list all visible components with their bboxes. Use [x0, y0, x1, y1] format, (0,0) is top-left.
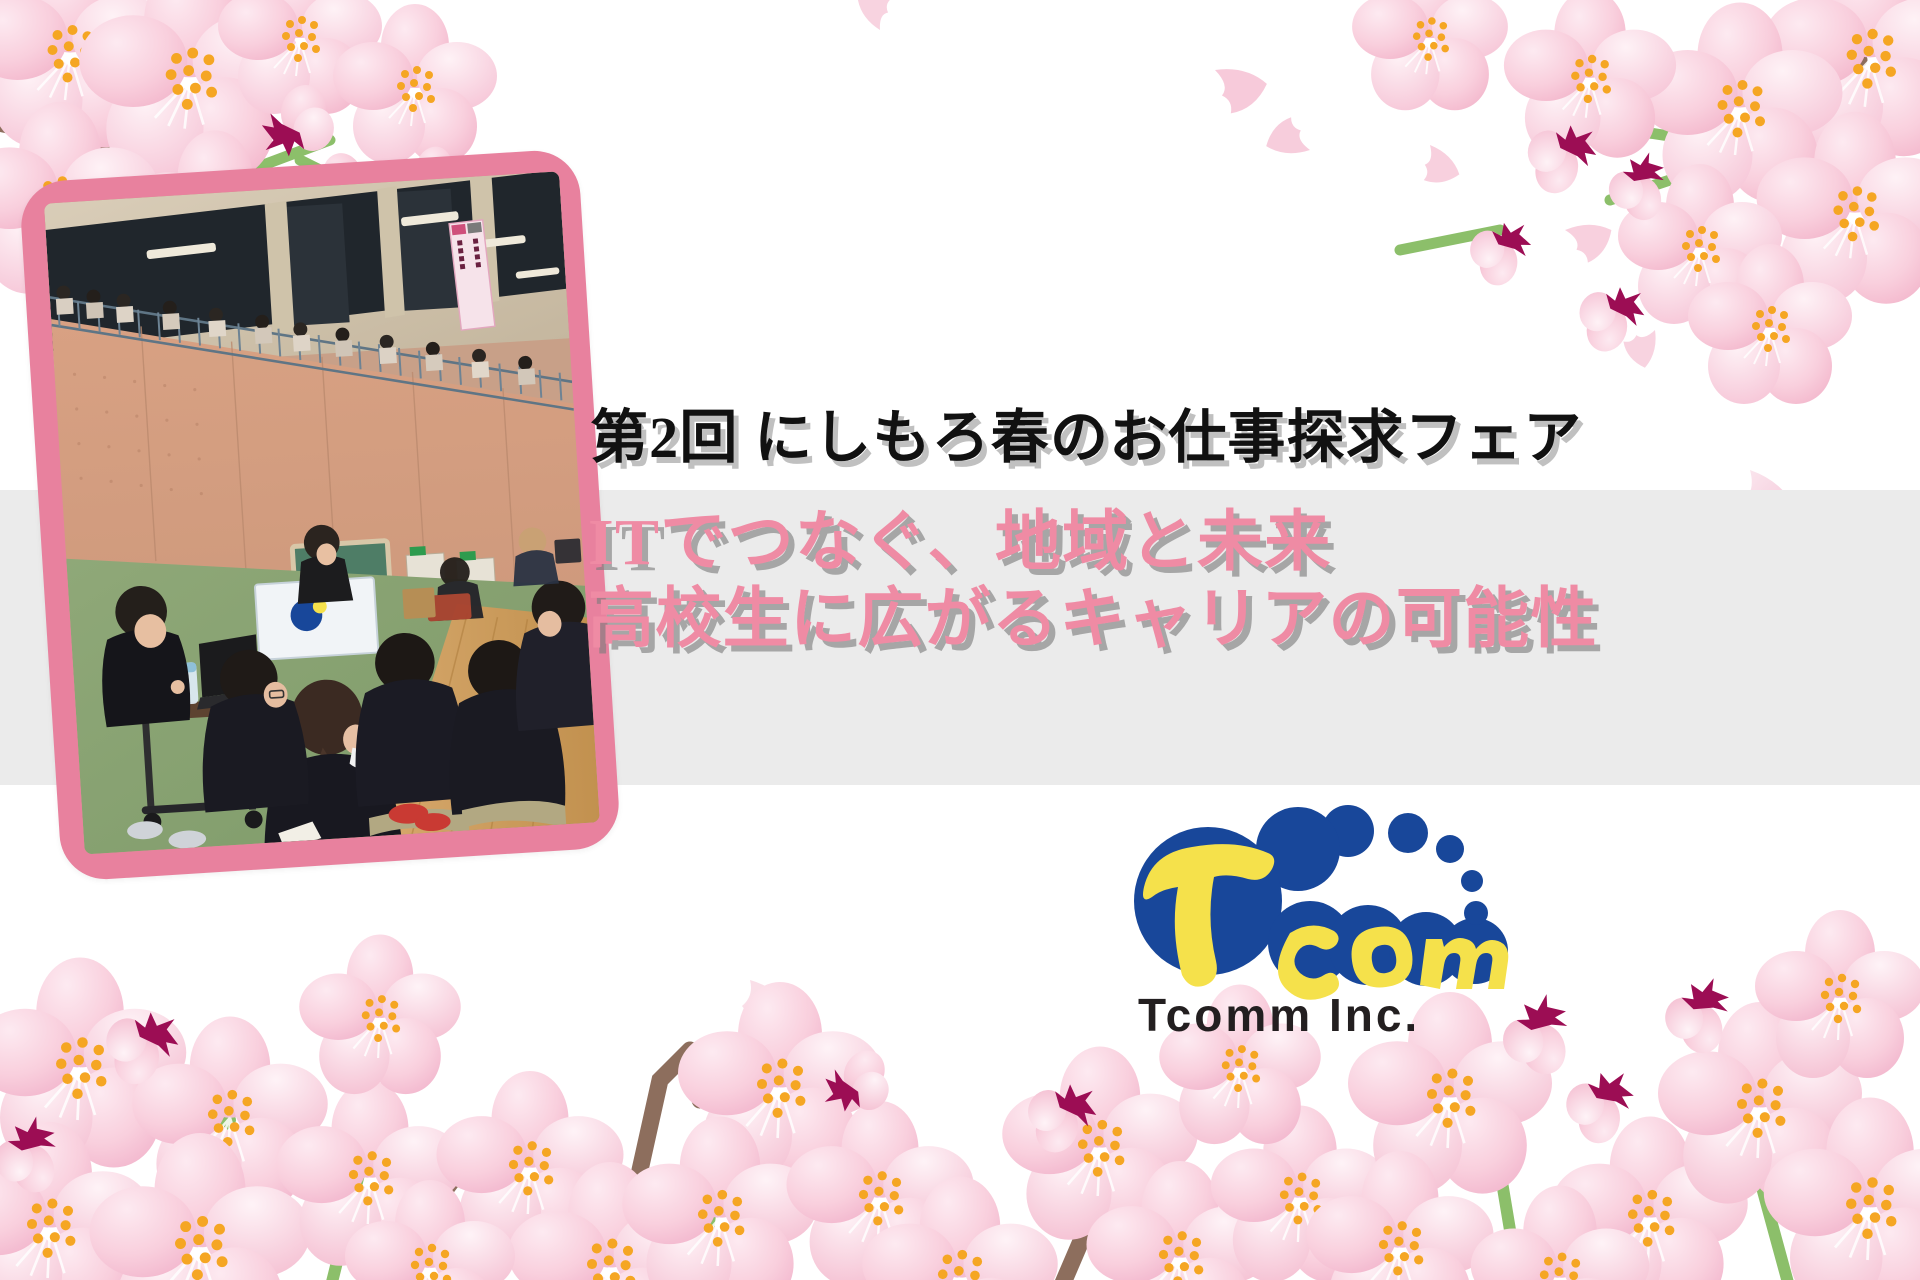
subtitle-group: ITでつなぐ、地域と未来 高校生に広がるキャリアの可能性: [588, 505, 1920, 658]
page-title: 第2回 にしもろ春のお仕事探求フェア: [590, 390, 1910, 474]
subtitle-line-1: ITでつなぐ、地域と未来: [588, 505, 1920, 582]
subtitle-line-2: 高校生に広がるキャリアの可能性: [588, 582, 1920, 659]
poster-canvas: 第2回 にしもろ春のお仕事探求フェア ITでつなぐ、地域と未来 高校生に広がるキ…: [0, 0, 1920, 1280]
logo-company-name: Tcomm Inc.: [1138, 989, 1420, 1040]
event-photo: [44, 171, 600, 854]
gymnasium-scene-illustration: [44, 171, 600, 854]
tcomm-bubble-logo-icon: Tcomm Inc.: [1120, 805, 1540, 1040]
event-photo-card: [19, 148, 622, 882]
company-logo: Tcomm Inc.: [1120, 805, 1540, 1040]
